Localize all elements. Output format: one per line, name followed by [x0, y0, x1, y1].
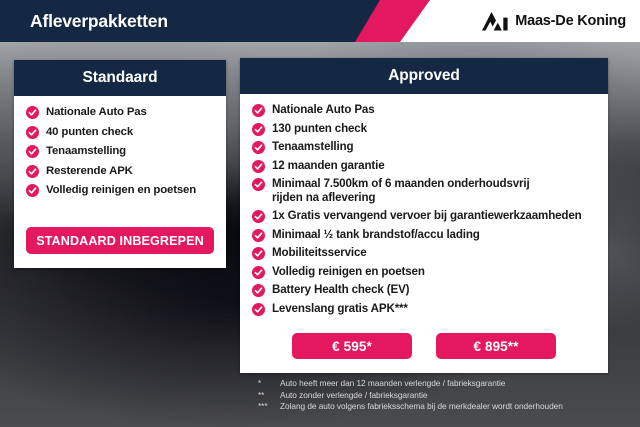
list-item: Nationale Auto Pas: [26, 105, 214, 120]
list-item: Resterende APK: [26, 164, 214, 179]
brand-lockup: Maas-De Koning: [482, 0, 626, 42]
price-button-595[interactable]: € 595*: [292, 333, 412, 359]
check-circle-icon: [252, 266, 265, 279]
page-title: Afleverpakketten: [30, 0, 168, 42]
list-item: Mobiliteitsservice: [252, 246, 596, 261]
list-item: Battery Health check (EV): [252, 283, 596, 298]
check-circle-icon: [252, 229, 265, 242]
standard-card-title: Standaard: [14, 60, 226, 96]
list-item-label: Volledig reinigen en poetsen: [272, 265, 425, 280]
footnote-marker: *: [258, 378, 274, 390]
list-item-label: Levenslang gratis APK***: [272, 302, 408, 317]
list-item: Minimaal ½ tank brandstof/accu lading: [252, 228, 596, 243]
footnote-row: *** Zolang de auto volgens fabrieksschem…: [258, 401, 618, 413]
list-item-label: Nationale Auto Pas: [272, 103, 375, 118]
approved-price-row: € 595* € 895**: [240, 333, 608, 359]
standard-package-card: Standaard Nationale Auto Pas 40 punten c…: [14, 60, 226, 268]
approved-package-card: Approved Nationale Auto Pas 130 punten c…: [240, 58, 608, 373]
afleverpakketten-promo-screen: Afleverpakketten Maas-De Koning Standaar…: [0, 0, 640, 427]
list-item-label: 40 punten check: [46, 125, 133, 140]
check-circle-icon: [252, 284, 265, 297]
check-circle-icon: [252, 178, 265, 191]
standard-included-button[interactable]: STANDAARD INBEGREPEN: [26, 227, 214, 254]
check-circle-icon: [26, 126, 39, 139]
list-item-label: Resterende APK: [46, 164, 133, 179]
list-item: Volledig reinigen en poetsen: [252, 265, 596, 280]
list-item-label: Tenaamstelling: [46, 144, 126, 159]
check-circle-icon: [252, 210, 265, 223]
page-header: Afleverpakketten Maas-De Koning: [0, 0, 640, 42]
list-item: Volledig reinigen en poetsen: [26, 183, 214, 198]
list-item: 40 punten check: [26, 125, 214, 140]
list-item-label: Minimaal ½ tank brandstof/accu lading: [272, 228, 480, 243]
footnote-row: ** Auto zonder verlengde / fabrieksgaran…: [258, 390, 618, 402]
price-button-895[interactable]: € 895**: [436, 333, 556, 359]
check-circle-icon: [26, 106, 39, 119]
list-item-label: Tenaamstelling: [272, 140, 353, 155]
maas-de-koning-m-logo-icon: [482, 12, 508, 31]
check-circle-icon: [26, 165, 39, 178]
list-item: Tenaamstelling: [252, 140, 596, 155]
list-item: Nationale Auto Pas: [252, 103, 596, 118]
list-item-label: Mobiliteitsservice: [272, 246, 367, 261]
check-circle-icon: [26, 184, 39, 197]
standard-feature-list: Nationale Auto Pas 40 punten check Tenaa…: [14, 96, 226, 198]
list-item: Levenslang gratis APK***: [252, 302, 596, 317]
list-item: 1x Gratis vervangend vervoer bij garanti…: [252, 209, 596, 224]
check-circle-icon: [252, 303, 265, 316]
list-item-label: 1x Gratis vervangend vervoer bij garanti…: [272, 209, 582, 224]
list-item-label: Nationale Auto Pas: [46, 105, 147, 120]
list-item: Tenaamstelling: [26, 144, 214, 159]
footnote-text: Auto zonder verlengde / fabrieksgarantie: [280, 390, 427, 402]
list-item-label: 12 maanden garantie: [272, 159, 385, 174]
footnote-marker: ***: [258, 401, 274, 413]
list-item: Minimaal 7.500km of 6 maanden onderhouds…: [252, 177, 596, 192]
footnotes: * Auto heeft meer dan 12 maanden verleng…: [258, 378, 618, 413]
list-item: 130 punten check: [252, 122, 596, 137]
check-circle-icon: [26, 145, 39, 158]
check-circle-icon: [252, 141, 265, 154]
footnote-row: * Auto heeft meer dan 12 maanden verleng…: [258, 378, 618, 390]
list-item-label: 130 punten check: [272, 122, 367, 137]
check-circle-icon: [252, 160, 265, 173]
check-circle-icon: [252, 123, 265, 136]
footnote-marker: **: [258, 390, 274, 402]
list-item-label-continuation: rijden na aflevering: [272, 191, 596, 206]
check-circle-icon: [252, 247, 265, 260]
list-item-label: Minimaal 7.500km of 6 maanden onderhouds…: [272, 177, 530, 192]
check-circle-icon: [252, 104, 265, 117]
approved-card-title: Approved: [240, 58, 608, 94]
list-item: 12 maanden garantie: [252, 159, 596, 174]
brand-name: Maas-De Koning: [515, 13, 626, 29]
approved-feature-list: Nationale Auto Pas 130 punten check Tena…: [240, 94, 608, 316]
footnote-text: Auto heeft meer dan 12 maanden verlengde…: [280, 378, 505, 390]
list-item-label: Battery Health check (EV): [272, 283, 409, 298]
list-item-label: Volledig reinigen en poetsen: [46, 183, 196, 198]
footnote-text: Zolang de auto volgens fabrieksschema bi…: [280, 401, 563, 413]
